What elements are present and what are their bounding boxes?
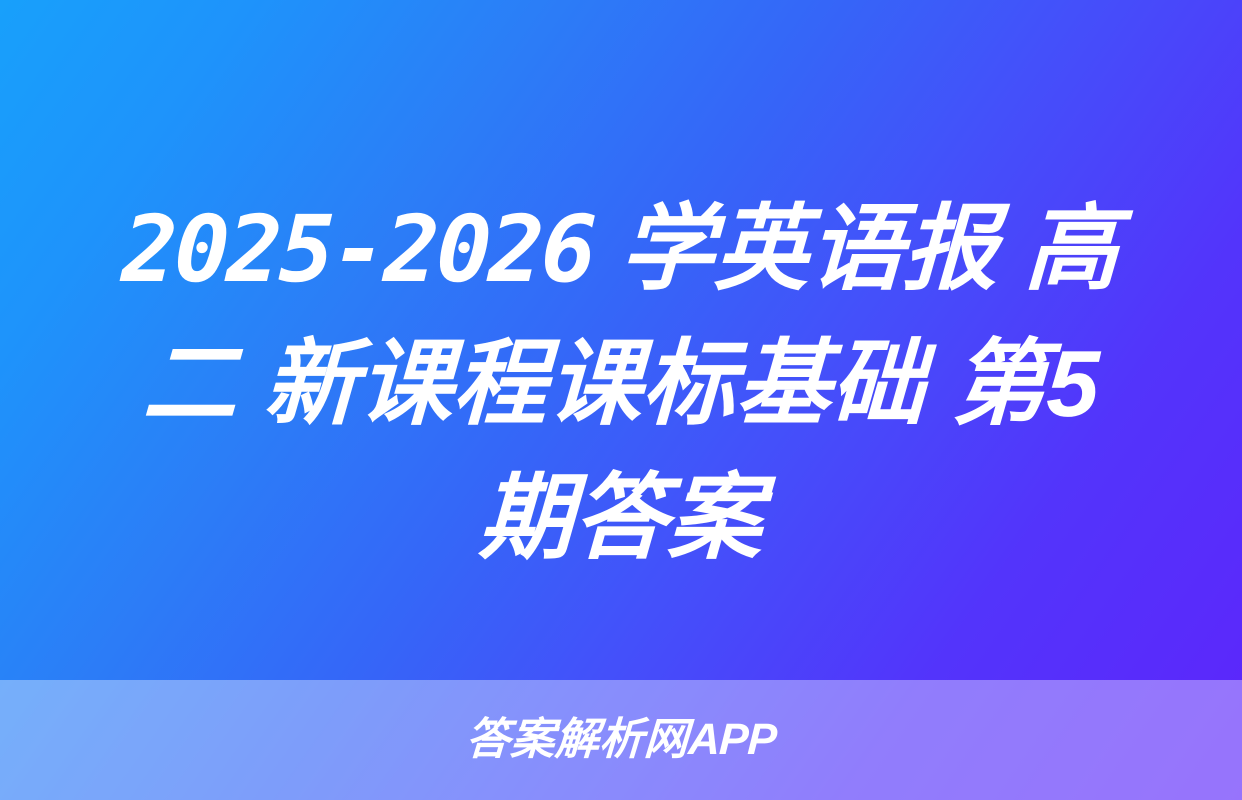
app-brand-suffix: APP [687,715,777,764]
headline-line-1: 2025-2026 学英语报 高 [120,182,1122,317]
headline-line-1-text: 学英语报 高 [592,196,1121,301]
headline-line-1-number: 2025-2026 [121,196,596,303]
headline-line-2-lead: 二 [141,331,239,436]
headline-block: 2025-2026 学英语报 高 二 新课程课标基础 第5 期答案 [0,182,1242,582]
footer-banner: 答案解析网APP [0,680,1242,800]
app-brand-name: 答案解析网 [465,715,690,764]
app-brand-label: 答案解析网APP [465,718,777,762]
headline-line-3-text: 期答案 [477,465,764,570]
headline-line-2: 二 新课程课标基础 第5 [140,317,1101,451]
promo-card: 2025-2026 学英语报 高 二 新课程课标基础 第5 期答案 答案解析网A… [0,0,1242,800]
headline-line-2-text: 新课程课标基础 第5 [235,331,1101,436]
headline-line-3: 期答案 [477,451,765,585]
